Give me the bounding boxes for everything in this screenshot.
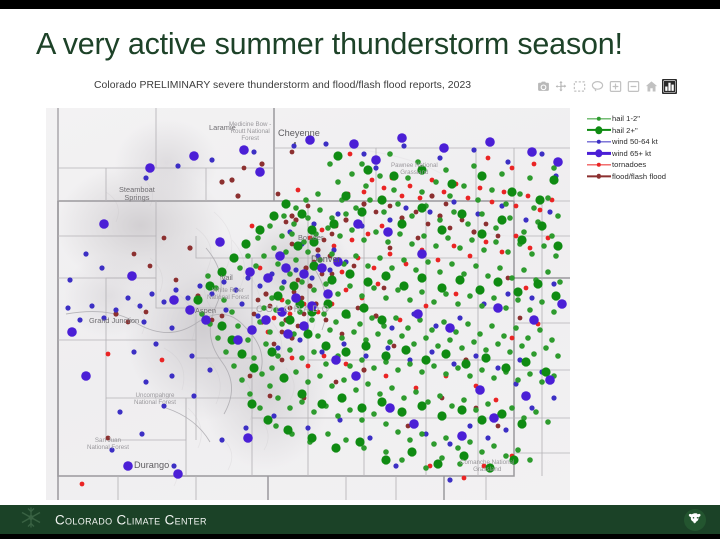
slide-footer: Colorado Climate Center: [0, 505, 720, 534]
storm-reports-map[interactable]: LaramieCheyenneSteamboat SpringsBoulderD…: [46, 108, 570, 500]
chart-title: Colorado PRELIMINARY severe thunderstorm…: [94, 80, 471, 91]
legend-swatch: [586, 159, 612, 170]
legend-label: flood/flash flood: [612, 172, 666, 181]
box-select-icon[interactable]: [572, 79, 587, 94]
legend-item[interactable]: wind 65+ kt: [586, 148, 712, 159]
zoom-in-icon[interactable]: [608, 79, 623, 94]
legend-item[interactable]: flood/flash flood: [586, 171, 712, 182]
storm-report-points: [46, 108, 570, 500]
pan-icon[interactable]: [554, 79, 569, 94]
csu-rams-logo: [684, 509, 706, 531]
lasso-select-icon[interactable]: [590, 79, 605, 94]
letterbox-top: [0, 0, 720, 9]
home-icon[interactable]: [644, 79, 659, 94]
legend-swatch: [586, 136, 612, 147]
legend-label: wind 50-64 kt: [612, 137, 658, 146]
legend-item[interactable]: hail 1-2": [586, 113, 712, 124]
plotly-modebar[interactable]: [536, 79, 677, 94]
presentation-slide: A very active summer thunderstorm season…: [0, 0, 720, 539]
legend-label: hail 1-2": [612, 114, 640, 123]
legend-label: hail 2+": [612, 126, 638, 135]
legend-item[interactable]: wind 50-64 kt: [586, 136, 712, 147]
legend-label: tornadoes: [612, 160, 646, 169]
legend-swatch: [586, 148, 612, 159]
zoom-out-icon[interactable]: [626, 79, 641, 94]
slide-title: A very active summer thunderstorm season…: [36, 22, 696, 66]
snowflake-watermark-icon: [18, 505, 44, 534]
plotly-logo-icon[interactable]: [662, 79, 677, 94]
chart-legend[interactable]: hail 1-2"hail 2+"wind 50-64 ktwind 65+ k…: [586, 113, 712, 182]
footer-title: Colorado Climate Center: [55, 512, 207, 527]
legend-item[interactable]: tornadoes: [586, 159, 712, 170]
legend-swatch: [586, 171, 612, 182]
camera-icon[interactable]: [536, 79, 551, 94]
legend-swatch: [586, 113, 612, 124]
legend-item[interactable]: hail 2+": [586, 125, 712, 136]
legend-swatch: [586, 125, 612, 136]
letterbox-bottom: [0, 534, 720, 539]
legend-label: wind 65+ kt: [612, 149, 651, 158]
